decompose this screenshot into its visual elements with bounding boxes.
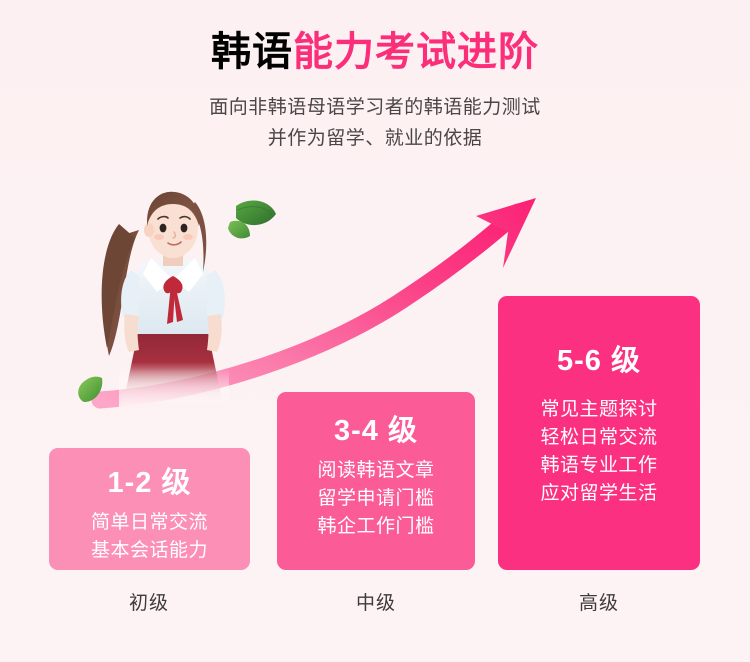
level-card-1-2-description: 简单日常交流 基本会话能力 [49, 509, 250, 565]
level-card-3-4-line-3: 韩企工作门槛 [277, 513, 475, 541]
header: 韩语能力考试进阶 面向非韩语母语学习者的韩语能力测试 并作为留学、就业的依据 [0, 26, 750, 154]
infographic-poster: 韩语能力考试进阶 面向非韩语母语学习者的韩语能力测试 并作为留学、就业的依据 [0, 0, 750, 662]
level-card-5-6-description: 常见主题探讨 轻松日常交流 韩语专业工作 应对留学生活 [498, 396, 700, 508]
page-title-dark-part: 韩语 [211, 30, 293, 74]
level-card-1-2-title: 1-2 级 [49, 466, 250, 500]
axis-label-advanced: 高级 [539, 588, 659, 615]
level-card-5-6[interactable]: 5-6 级 常见主题探讨 轻松日常交流 韩语专业工作 应对留学生活 [498, 296, 700, 570]
level-card-5-6-line-2: 轻松日常交流 [498, 424, 700, 452]
level-card-1-2-line-2: 基本会话能力 [49, 537, 250, 565]
level-card-5-6-title: 5-6 级 [498, 344, 700, 378]
level-card-1-2-line-1: 简单日常交流 [49, 509, 250, 537]
leaf-cluster-icon [222, 194, 282, 252]
page-subtitle: 面向非韩语母语学习者的韩语能力测试 并作为留学、就业的依据 [0, 92, 750, 154]
page-subtitle-line-1: 面向非韩语母语学习者的韩语能力测试 [0, 92, 750, 123]
level-card-1-2[interactable]: 1-2 级 简单日常交流 基本会话能力 [49, 448, 250, 570]
page-title: 韩语能力考试进阶 [0, 26, 750, 78]
level-card-5-6-line-4: 应对留学生活 [498, 480, 700, 508]
level-card-3-4-line-1: 阅读韩语文章 [277, 457, 475, 485]
page-subtitle-line-2: 并作为留学、就业的依据 [0, 123, 750, 154]
level-card-5-6-line-1: 常见主题探讨 [498, 396, 700, 424]
level-card-3-4-title: 3-4 级 [277, 414, 475, 448]
axis-label-beginner: 初级 [89, 588, 209, 615]
level-card-5-6-line-3: 韩语专业工作 [498, 452, 700, 480]
leaf-single-icon [72, 372, 108, 406]
page-title-pink-part: 能力考试进阶 [293, 30, 539, 74]
level-card-3-4-description: 阅读韩语文章 留学申请门槛 韩企工作门槛 [277, 457, 475, 541]
level-card-3-4-line-2: 留学申请门槛 [277, 485, 475, 513]
axis-label-intermediate: 中级 [316, 588, 436, 615]
level-card-3-4[interactable]: 3-4 级 阅读韩语文章 留学申请门槛 韩企工作门槛 [277, 392, 475, 570]
